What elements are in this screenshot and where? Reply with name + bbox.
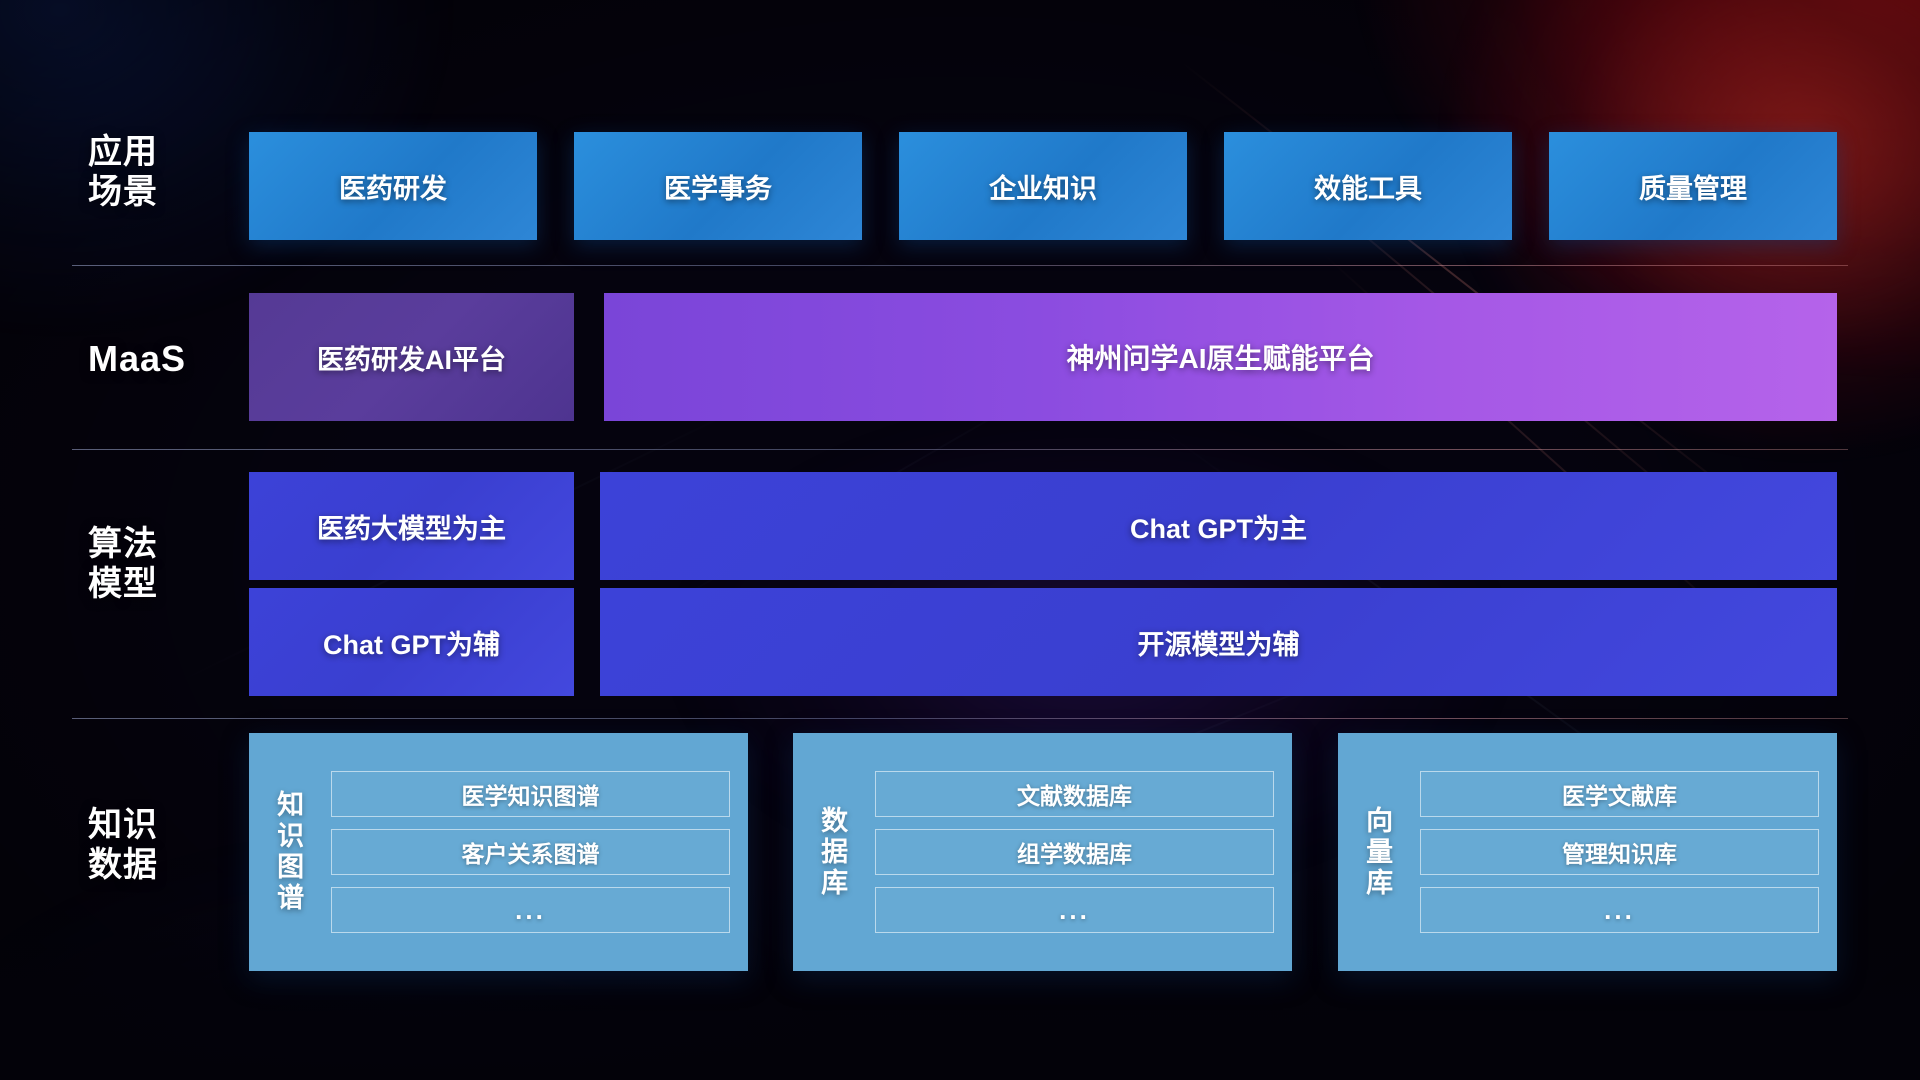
knowledge-panel-graph-title: 知识图谱 — [249, 733, 327, 971]
algorithm-left-box-2[interactable]: Chat GPT为辅 — [249, 588, 574, 696]
application-box-4[interactable]: 效能工具 — [1224, 132, 1512, 240]
knowledge-item[interactable]: 文献数据库 — [875, 771, 1274, 817]
knowledge-panel-vector[interactable]: 向量库 医学文献库 管理知识库 ... — [1338, 733, 1837, 971]
knowledge-item[interactable]: 医学文献库 — [1420, 771, 1819, 817]
application-box-3[interactable]: 企业知识 — [899, 132, 1187, 240]
knowledge-item-more[interactable]: ... — [875, 887, 1274, 933]
knowledge-item[interactable]: 客户关系图谱 — [331, 829, 730, 875]
knowledge-item[interactable]: 管理知识库 — [1420, 829, 1819, 875]
row-label-algorithm: 算法 模型 — [88, 524, 228, 604]
knowledge-panel-graph[interactable]: 知识图谱 医学知识图谱 客户关系图谱 ... — [249, 733, 748, 971]
application-box-2[interactable]: 医学事务 — [574, 132, 862, 240]
knowledge-panel-database-items: 文献数据库 组学数据库 ... — [871, 733, 1292, 971]
row-label-knowledge: 知识 数据 — [88, 805, 228, 885]
row-label-maas: MaaS — [88, 338, 228, 380]
knowledge-item-more[interactable]: ... — [331, 887, 730, 933]
knowledge-panel-graph-items: 医学知识图谱 客户关系图谱 ... — [327, 733, 748, 971]
knowledge-item-more[interactable]: ... — [1420, 887, 1819, 933]
knowledge-panel-vector-title: 向量库 — [1338, 733, 1416, 971]
row-label-knowledge-line2: 数据 — [88, 845, 228, 885]
application-box-5[interactable]: 质量管理 — [1549, 132, 1837, 240]
row-label-algorithm-line1: 算法 — [88, 524, 228, 564]
row-label-application-line2: 场景 — [88, 172, 228, 212]
row-label-maas-line1: MaaS — [88, 338, 228, 380]
knowledge-item[interactable]: 组学数据库 — [875, 829, 1274, 875]
knowledge-panel-database-title: 数据库 — [793, 733, 871, 971]
knowledge-panel-vector-items: 医学文献库 管理知识库 ... — [1416, 733, 1837, 971]
maas-enablement-platform-box[interactable]: 神州问学AI原生赋能平台 — [604, 293, 1837, 421]
knowledge-panel-database[interactable]: 数据库 文献数据库 组学数据库 ... — [793, 733, 1292, 971]
divider-algorithm-knowledge — [72, 718, 1848, 719]
divider-maas-algorithm — [72, 449, 1848, 450]
divider-application-maas — [72, 265, 1848, 266]
row-label-application: 应用 场景 — [88, 132, 228, 212]
algorithm-left-box-1[interactable]: 医药大模型为主 — [249, 472, 574, 580]
application-box-1[interactable]: 医药研发 — [249, 132, 537, 240]
architecture-diagram: 应用 场景 医药研发 医学事务 企业知识 效能工具 质量管理 MaaS 医药研发… — [0, 0, 1920, 1080]
row-label-application-line1: 应用 — [88, 132, 228, 172]
row-label-algorithm-line2: 模型 — [88, 564, 228, 604]
knowledge-item[interactable]: 医学知识图谱 — [331, 771, 730, 817]
algorithm-right-box-1[interactable]: Chat GPT为主 — [600, 472, 1837, 580]
maas-platform-box[interactable]: 医药研发AI平台 — [249, 293, 574, 421]
row-label-knowledge-line1: 知识 — [88, 805, 228, 845]
algorithm-right-box-2[interactable]: 开源模型为辅 — [600, 588, 1837, 696]
